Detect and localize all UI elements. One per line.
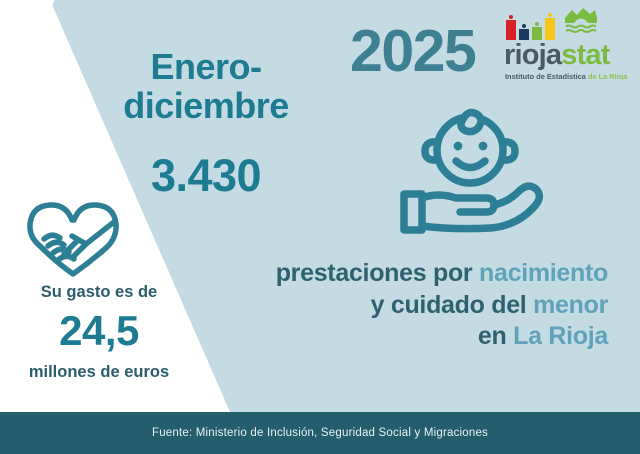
statement-line-2-light: menor: [533, 291, 608, 319]
logo-subtitle-light: de La Rioja: [586, 72, 627, 81]
figure-body-icon: [519, 29, 529, 40]
benefit-count-value: 3.430: [96, 150, 316, 202]
logo-wordmark: riojastat: [504, 41, 632, 70]
statement-line-3-dark: en: [478, 322, 513, 350]
riojastat-logo: riojastat Instituto de Estadística de La…: [502, 6, 632, 81]
spending-value: 24,5: [0, 307, 198, 355]
statement-line-1-dark: prestaciones por: [276, 259, 479, 287]
logo-emblem: [506, 6, 632, 40]
period-line-2: diciembre: [96, 87, 316, 126]
logo-subtitle: Instituto de Estadística de La Rioja: [505, 72, 632, 81]
bridge-mountain-icon: [564, 5, 598, 40]
period-heading: Enero- diciembre: [96, 48, 316, 125]
period-line-1: Enero-: [96, 48, 316, 87]
year-label: 2025: [350, 22, 475, 81]
emblem-figure-red: [506, 15, 516, 41]
handshake-heart-icon: [22, 196, 126, 283]
footer-bar: Fuente: Ministerio de Inclusión, Segurid…: [0, 412, 640, 454]
logo-word-rioja: rioja: [504, 39, 561, 71]
statement-line-1-light: nacimiento: [479, 259, 608, 287]
statement-line-2: y cuidado del menor: [276, 290, 608, 322]
statement-line-2-dark: y cuidado del: [371, 291, 534, 319]
emblem-figure-green: [532, 22, 542, 41]
spending-label: Su gasto es de: [0, 283, 198, 302]
figure-body-icon: [532, 27, 542, 40]
figure-head-icon: [509, 15, 513, 19]
figure-body-icon: [545, 18, 555, 40]
main-statement: prestaciones por nacimiento y cuidado de…: [276, 258, 608, 353]
figure-head-icon: [522, 24, 526, 28]
source-attribution: Fuente: Ministerio de Inclusión, Segurid…: [152, 427, 488, 439]
emblem-figure-navy: [519, 24, 529, 41]
logo-subtitle-dark: Instituto de Estadística: [505, 72, 586, 81]
statement-line-1: prestaciones por nacimiento: [276, 258, 608, 290]
figure-head-icon: [548, 13, 552, 17]
logo-word-stat: stat: [561, 39, 609, 71]
baby-in-hand-icon: [398, 108, 558, 243]
emblem-figure-yellow: [545, 13, 555, 41]
statement-line-3-light: La Rioja: [513, 322, 608, 350]
figure-head-icon: [535, 22, 539, 26]
infographic-canvas: riojastat Instituto de Estadística de La…: [0, 0, 640, 454]
spending-unit: millones de euros: [0, 363, 198, 382]
figure-body-icon: [506, 20, 516, 40]
statement-line-3: en La Rioja: [276, 321, 608, 353]
